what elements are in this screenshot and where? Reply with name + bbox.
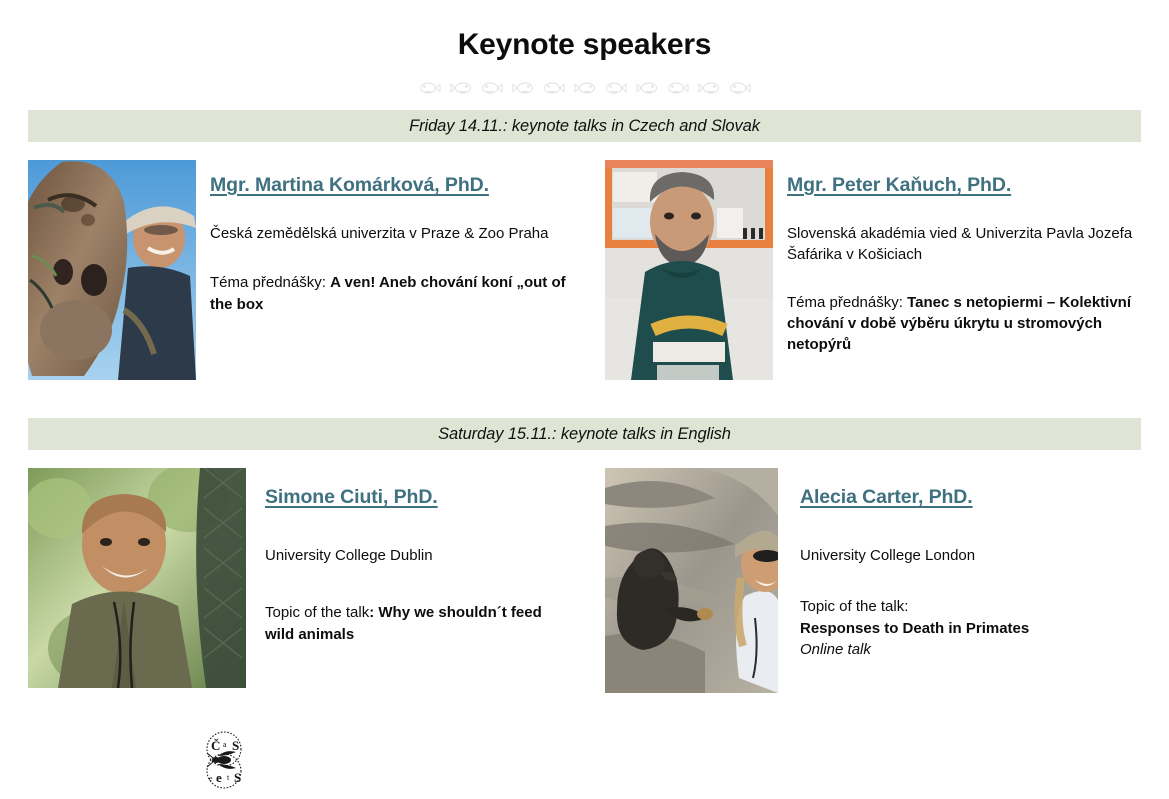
speaker-topic: Topic of the talk: Why we shouldn´t feed… [265, 602, 573, 645]
csets-society-logo: Č a S e e t S [192, 730, 256, 790]
fish-ornament-icon [667, 80, 689, 96]
fish-ornament-icon [729, 80, 751, 96]
speaker-name-link[interactable]: Mgr. Martina Komárková, PhD. [210, 174, 573, 197]
speaker-affiliation: University College Dublin [265, 545, 573, 566]
svg-text:Č: Č [211, 738, 220, 753]
speaker-topic: Téma přednášky: A ven! Aneb chování koní… [210, 272, 573, 315]
footer: Č a S e e t S 52nd conference of the Cze… [0, 728, 1169, 794]
svg-text:S: S [232, 738, 239, 753]
speaker-info-ciuti: Simone Ciuti, PhD. University College Du… [265, 468, 573, 645]
speaker-name-link[interactable]: Simone Ciuti, PhD. [265, 486, 573, 509]
page-title: Keynote speakers [0, 28, 1169, 62]
fish-ornament-icon [574, 80, 596, 96]
topic-label: Topic of the talk [265, 604, 369, 621]
topic-label: Téma přednášky: [210, 274, 330, 291]
day-banner-saturday-label: Saturday 15.11.: keynote talks in Englis… [438, 425, 731, 444]
speaker-topic: Téma přednášky: Tanec s netopiermi – Kol… [787, 292, 1150, 356]
svg-text:e: e [209, 774, 213, 783]
fish-ornament-icon [605, 80, 627, 96]
speaker-card-kanuch: Mgr. Peter Kaňuch, PhD. Slovenská akadém… [605, 160, 1150, 380]
speaker-info-komarkova: Mgr. Martina Komárková, PhD. Česká zeměd… [210, 160, 573, 315]
speaker-card-komarkova: Mgr. Martina Komárková, PhD. Česká zeměd… [28, 160, 573, 380]
speaker-photo-kanuch [605, 160, 773, 380]
fish-ornament-icon [636, 80, 658, 96]
topic-label: Téma přednášky: [787, 294, 907, 311]
fish-ornament-icon [419, 80, 441, 96]
speaker-affiliation: Česká zemědělská univerzita v Praze & Zo… [210, 223, 573, 244]
fish-ornament-icon [543, 80, 565, 96]
day-banner-saturday: Saturday 15.11.: keynote talks in Englis… [28, 418, 1141, 450]
svg-text:a: a [223, 740, 227, 749]
speaker-card-carter: Alecia Carter, PhD. University College L… [605, 468, 1150, 693]
fish-ornament-icon [512, 80, 534, 96]
svg-text:t: t [227, 773, 230, 782]
fish-ornament-icon [450, 80, 472, 96]
day-banner-friday: Friday 14.11.: keynote talks in Czech an… [28, 110, 1141, 142]
topic-title: Responses to Death in Primates [800, 620, 1029, 637]
speaker-photo-komarkova [28, 160, 196, 380]
day-banner-friday-label: Friday 14.11.: keynote talks in Czech an… [409, 117, 760, 136]
speaker-info-kanuch: Mgr. Peter Kaňuch, PhD. Slovenská akadém… [787, 160, 1150, 355]
speaker-name-link[interactable]: Alecia Carter, PhD. [800, 486, 1150, 509]
fish-ornament-icon [698, 80, 720, 96]
speaker-name-link[interactable]: Mgr. Peter Kaňuch, PhD. [787, 174, 1150, 197]
fish-ornament-icon [481, 80, 503, 96]
topic-label: Topic of the talk: [800, 598, 908, 615]
speaker-note: Online talk [800, 639, 1150, 660]
slide-root: Keynote speakers [0, 0, 1169, 799]
speaker-card-ciuti: Simone Ciuti, PhD. University College Du… [28, 468, 573, 688]
svg-text:S: S [234, 770, 241, 785]
speaker-info-carter: Alecia Carter, PhD. University College L… [800, 468, 1150, 660]
decorative-divider [0, 73, 1169, 103]
svg-text:e: e [216, 770, 222, 785]
speaker-photo-carter [605, 468, 778, 693]
speaker-affiliation: Slovenská akadémia vied & Univerzita Pav… [787, 223, 1150, 266]
speaker-photo-ciuti [28, 468, 246, 688]
speaker-affiliation: University College London [800, 545, 1150, 566]
speaker-topic: Topic of the talk:Responses to Death in … [800, 596, 1150, 639]
